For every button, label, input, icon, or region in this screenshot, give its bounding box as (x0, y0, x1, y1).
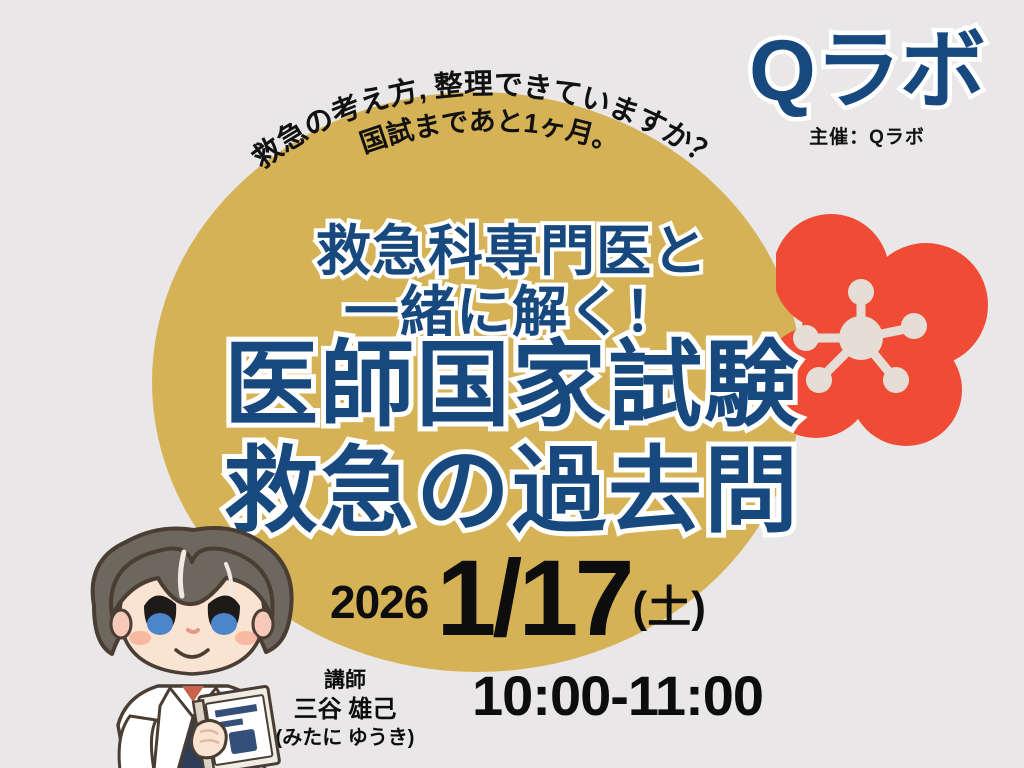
logo-wordmark: Qラボ (732, 28, 1002, 114)
poster-canvas: Qラボ 主催：Qラボ 国試まであと1ヶ月。 救急の考え方, 整理できていますか？… (0, 0, 1024, 768)
event-day: 1/17 (436, 548, 630, 647)
brand-logo: Qラボ 主催：Qラボ (732, 28, 1002, 149)
subheadline-line-1: 救急科専門医と (316, 220, 708, 282)
event-day-of-week: (土) (633, 571, 706, 635)
subheadline: 救急科専門医と 一緒に解く！ (0, 224, 1024, 340)
organizer-label: 主催：Qラボ (732, 122, 1002, 149)
doctor-character-illustration (58, 520, 328, 768)
event-year: 2026 (330, 575, 428, 629)
event-time: 10:00-11:00 (472, 668, 763, 724)
main-title-line-1: 医師国家試験 (224, 332, 800, 437)
main-title: 医師国家試験 救急の過去問 (0, 338, 1024, 538)
event-date: 2026 1/17 (土) (330, 548, 706, 647)
